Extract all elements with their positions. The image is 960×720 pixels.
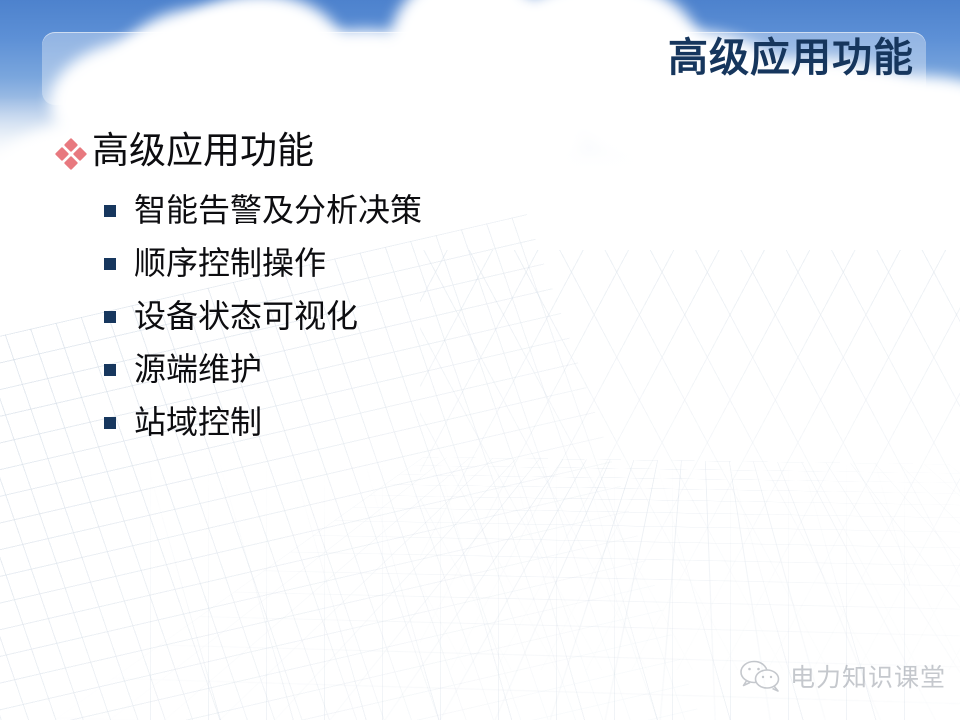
list-item-label: 设备状态可视化: [134, 294, 358, 338]
square-bullet-icon: [104, 258, 116, 270]
list-item: 智能告警及分析决策: [104, 188, 422, 241]
slide-content: 高级应用功能 智能告警及分析决策 顺序控制操作 设备状态可视化 源端维护 站域控…: [0, 0, 960, 720]
list-item: 设备状态可视化: [104, 294, 422, 347]
list-item: 顺序控制操作: [104, 241, 422, 294]
square-bullet-icon: [104, 205, 116, 217]
list-item: 站域控制: [104, 400, 422, 453]
square-bullet-icon: [104, 311, 116, 323]
square-bullet-icon: [104, 364, 116, 376]
watermark-label: 电力知识课堂: [790, 658, 946, 694]
list-item-label: 源端维护: [134, 347, 262, 391]
watermark: 电力知识课堂: [738, 658, 946, 694]
level1-bullet-label: 高级应用功能: [92, 132, 314, 173]
list-item-label: 智能告警及分析决策: [134, 188, 422, 232]
wechat-logo-icon: [738, 658, 784, 694]
square-bullet-icon: [104, 417, 116, 429]
level1-bullet: 高级应用功能: [56, 132, 314, 173]
slide-canvas: 高级应用功能 高级应用功能 智能告警及分析决策 顺序控制操作 设备状态可视化: [0, 0, 960, 720]
list-item: 源端维护: [104, 347, 422, 400]
level2-bullet-list: 智能告警及分析决策 顺序控制操作 设备状态可视化 源端维护 站域控制: [104, 188, 422, 453]
list-item-label: 站域控制: [134, 400, 262, 444]
diamond-cluster-bullet-icon: [56, 140, 86, 170]
list-item-label: 顺序控制操作: [134, 241, 326, 285]
